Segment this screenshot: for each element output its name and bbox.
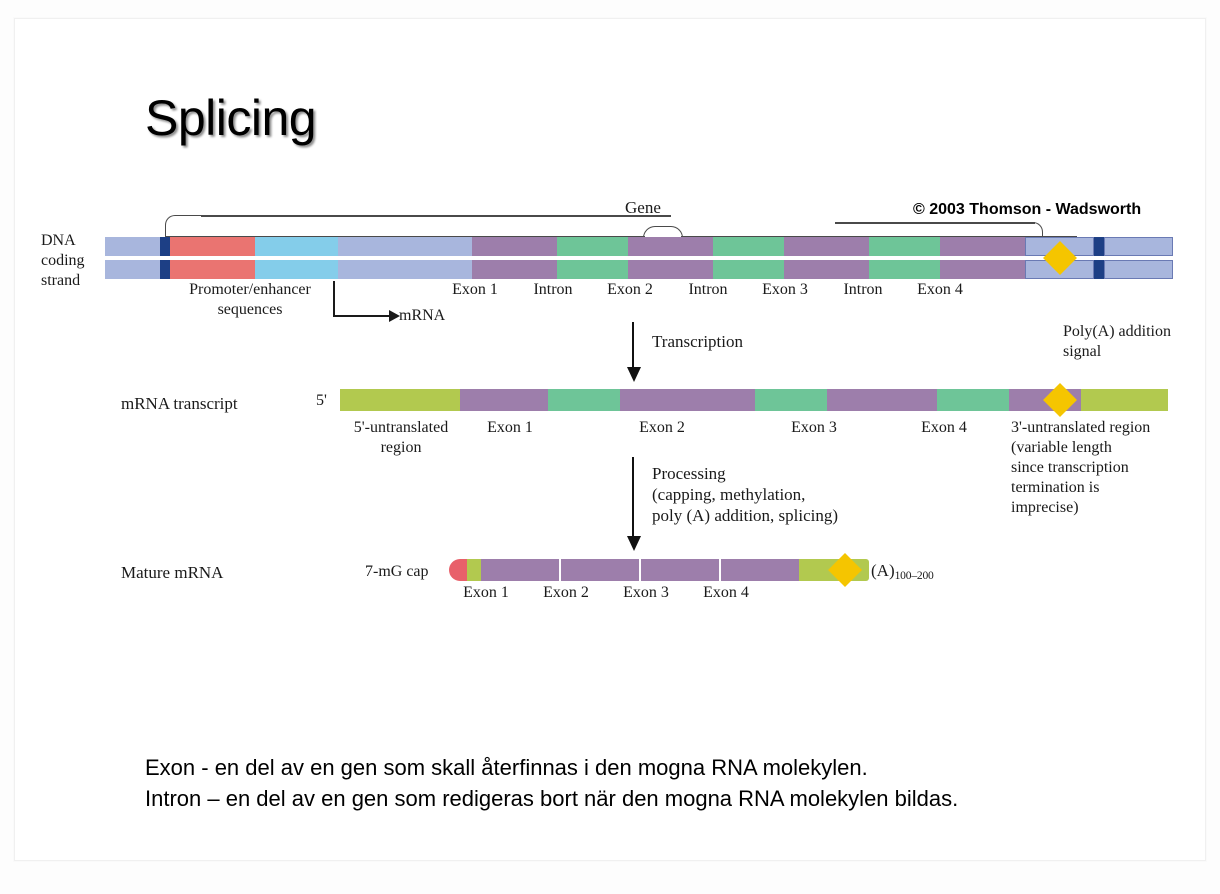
- transcript-segment-intron3: [937, 389, 1009, 411]
- mature-cap-label: 7-mG cap: [365, 563, 429, 581]
- dna-segment-utr5: [338, 237, 472, 256]
- polya-tail-count: 100–200: [895, 569, 934, 582]
- processing-arrow: [627, 457, 641, 553]
- promoter-leader-bar: [201, 215, 671, 217]
- mature-segment-exon1: [481, 559, 559, 581]
- transcript-segment-exon2: [620, 389, 755, 411]
- promoter-label-line2: sequences: [165, 301, 335, 319]
- transcript-label-exon4: Exon 4: [901, 419, 987, 437]
- slide-frame: Splicing © 2003 Thomson - Wadsworth Gene…: [0, 0, 1220, 894]
- dna-segment-intron1-b: [557, 260, 628, 279]
- transcript-label-utr3-line4: termination is: [1011, 479, 1099, 497]
- dna-segment-enhancer-b: [255, 260, 338, 279]
- mature-label-exon4: Exon 4: [685, 584, 767, 602]
- dna-segment-upstream: [105, 237, 160, 256]
- transcript-five-prime-label: 5': [316, 392, 327, 410]
- dna-segment-promoter-b: [170, 260, 255, 279]
- polya-tail-a: (A): [871, 561, 895, 580]
- mature-label-exon1: Exon 1: [445, 584, 527, 602]
- dna-segment-termination-b: [1094, 260, 1104, 279]
- dna-segment-transcription-start: [160, 237, 170, 256]
- transcript-label-exon2: Exon 2: [619, 419, 705, 437]
- dna-segment-enhancer: [255, 237, 338, 256]
- processing-arrow-shaft: [632, 457, 634, 537]
- processing-label-line2: (capping, methylation,: [652, 485, 805, 505]
- mrna-arrow-label: mRNA: [399, 307, 445, 325]
- transcript-segment-exon1: [460, 389, 548, 411]
- polya-leader-horizontal: [835, 222, 1035, 224]
- dna-segment-intron3-b: [869, 260, 940, 279]
- mature-mrna-bar: [449, 559, 869, 581]
- mature-segment-utr5: [467, 559, 481, 581]
- processing-arrow-head: [627, 536, 641, 551]
- promoter-leader-line: [165, 215, 205, 239]
- polya-signal-label-line2: signal: [1063, 343, 1101, 361]
- polya-signal-label-line1: Poly(A) addition: [1063, 323, 1171, 341]
- mature-row-label: Mature mRNA: [121, 563, 223, 583]
- dna-segment-intron1: [557, 237, 628, 256]
- dna-strand-bottom: [105, 260, 1173, 279]
- processing-label-line3: poly (A) addition, splicing): [652, 506, 838, 526]
- transcript-segment-intron1: [548, 389, 620, 411]
- polya-tail-label: (A)100–200: [871, 561, 934, 582]
- processing-label-line1: Processing: [652, 464, 726, 484]
- dna-double-strand: [105, 237, 1173, 279]
- dna-label-exon4: Exon 4: [900, 281, 980, 299]
- dna-row-label-line3: strand: [41, 272, 80, 290]
- mrna-arrow-horizontal: [333, 315, 391, 317]
- transcript-label-utr5-line2: region: [337, 439, 465, 457]
- dna-label-exon1: Exon 1: [435, 281, 515, 299]
- transcript-segment-utr3: [1081, 389, 1168, 411]
- mature-label-exon3: Exon 3: [605, 584, 687, 602]
- transcription-arrow-head: [627, 367, 641, 382]
- transcript-row-label: mRNA transcript: [121, 394, 238, 414]
- transcript-label-utr3-line2: (variable length: [1011, 439, 1112, 457]
- dna-segment-exon3: [784, 237, 869, 256]
- dna-segment-exon2: [628, 237, 713, 256]
- transcription-arrow: [627, 322, 641, 382]
- dna-segment-utr5-b: [338, 260, 472, 279]
- mrna-transcript-bar: [340, 389, 1168, 411]
- dna-segment-exon1: [472, 237, 557, 256]
- mature-segment-exon4: [721, 559, 799, 581]
- dna-segment-upstream-b: [105, 260, 160, 279]
- dna-segment-intron3: [869, 237, 940, 256]
- dna-segment-exon2-b: [628, 260, 713, 279]
- dna-row-label-line2: coding: [41, 252, 85, 270]
- promoter-label-line1: Promoter/enhancer: [165, 281, 335, 299]
- dna-segment-intron2-b: [713, 260, 784, 279]
- dna-label-intron2: Intron: [672, 281, 744, 299]
- transcript-label-utr3-line5: imprecise): [1011, 499, 1079, 517]
- mature-label-exon2: Exon 2: [525, 584, 607, 602]
- mrna-arrow-vertical: [333, 281, 335, 317]
- transcript-label-utr5-line1: 5'-untranslated: [337, 419, 465, 437]
- dna-segment-downstream: [1104, 237, 1173, 256]
- dna-segment-intron2: [713, 237, 784, 256]
- dna-segment-exon4-b: [940, 260, 1025, 279]
- dna-label-exon2: Exon 2: [590, 281, 670, 299]
- slide-canvas: Splicing © 2003 Thomson - Wadsworth Gene…: [14, 18, 1206, 861]
- dna-label-intron1: Intron: [517, 281, 589, 299]
- dna-segment-exon4: [940, 237, 1025, 256]
- dna-row-label-line1: DNA: [41, 232, 76, 250]
- mature-segment-exon2: [561, 559, 639, 581]
- dna-segment-downstream-b: [1104, 260, 1173, 279]
- dna-label-intron3: Intron: [827, 281, 899, 299]
- transcript-label-utr3-line1: 3'-untranslated region: [1011, 419, 1150, 437]
- transcript-label-exon1: Exon 1: [467, 419, 553, 437]
- intron-definition: Intron – en del av en gen som redigeras …: [145, 783, 958, 814]
- definitions-block: Exon - en del av en gen som skall återfi…: [145, 752, 958, 814]
- dna-label-exon3: Exon 3: [745, 281, 825, 299]
- dna-segment-exon1-b: [472, 260, 557, 279]
- dna-strand-top: [105, 237, 1173, 256]
- transcript-label-utr3-line3: since transcription: [1011, 459, 1129, 477]
- transcription-arrow-shaft: [632, 322, 634, 368]
- transcript-segment-utr5: [340, 389, 460, 411]
- dna-segment-termination: [1094, 237, 1104, 256]
- dna-segment-transcription-start-b: [160, 260, 170, 279]
- dna-segment-promoter: [170, 237, 255, 256]
- mature-segment-exon3: [641, 559, 719, 581]
- transcription-label: Transcription: [652, 332, 743, 352]
- transcript-label-exon3: Exon 3: [771, 419, 857, 437]
- page-title: Splicing: [145, 93, 316, 143]
- transcript-segment-intron2: [755, 389, 827, 411]
- copyright-notice: © 2003 Thomson - Wadsworth: [913, 201, 1141, 219]
- dna-segment-exon3-b: [784, 260, 869, 279]
- transcript-segment-exon3: [827, 389, 937, 411]
- exon-definition: Exon - en del av en gen som skall återfi…: [145, 752, 958, 783]
